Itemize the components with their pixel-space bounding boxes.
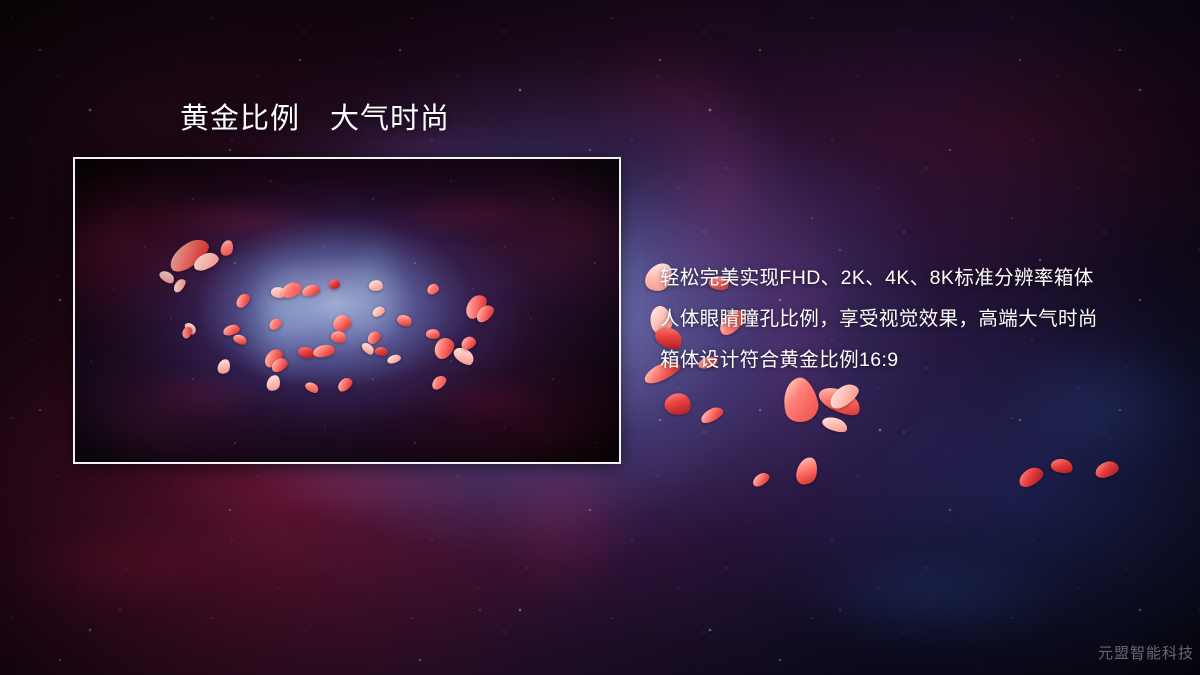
body-text-block: 轻松完美实现FHD、2K、4K、8K标准分辨率箱体 人体眼睛瞳孔比例，享受视觉效… xyxy=(660,258,1180,381)
media-vignette xyxy=(75,159,619,462)
page-title: 黄金比例 大气时尚 xyxy=(180,101,450,137)
presentation-slide: 黄金比例 大气时尚 xyxy=(0,0,1200,675)
watermark: 元盟智能科技 xyxy=(1098,642,1194,663)
media-image xyxy=(75,159,619,462)
media-frame xyxy=(73,157,621,464)
body-line-2: 人体眼睛瞳孔比例，享受视觉效果，高端大气时尚 xyxy=(660,299,1180,340)
body-line-3: 箱体设计符合黄金比例16:9 xyxy=(660,340,1180,381)
body-line-1: 轻松完美实现FHD、2K、4K、8K标准分辨率箱体 xyxy=(660,258,1180,299)
